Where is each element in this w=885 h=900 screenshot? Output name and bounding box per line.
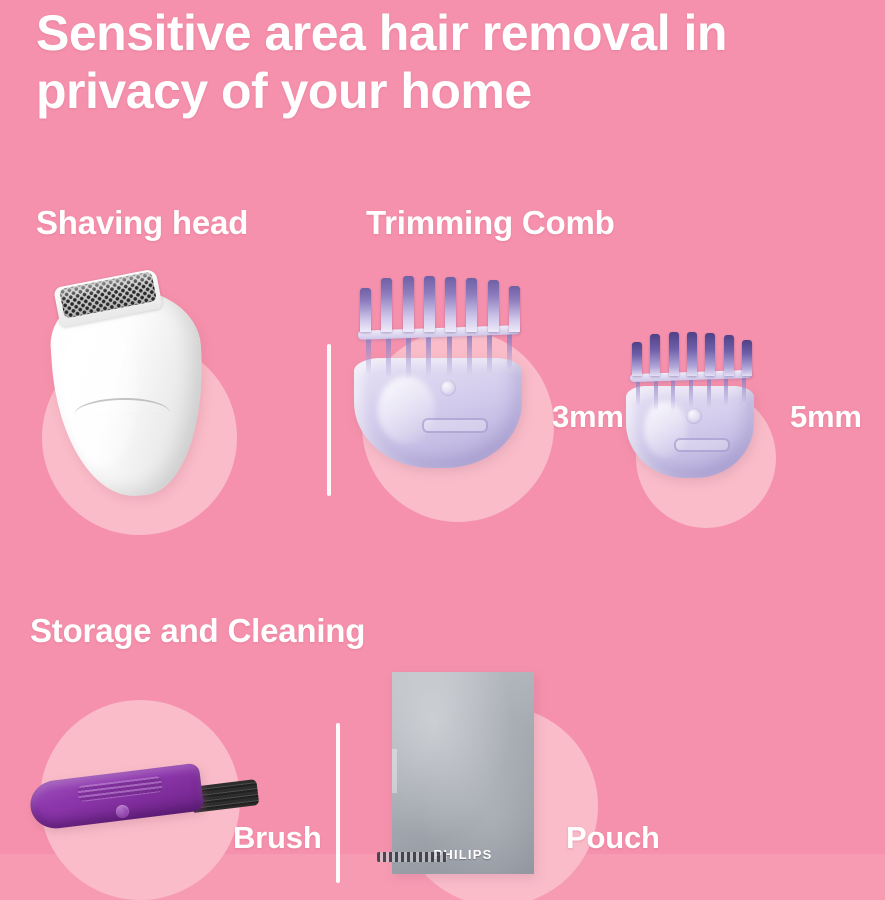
- page-title: Sensitive area hair removal in privacy o…: [36, 4, 866, 120]
- section-heading-trimming-comb: Trimming Comb: [366, 204, 615, 242]
- comb-5mm-teeth: [632, 330, 752, 376]
- caption-brush: Brush: [233, 820, 322, 856]
- pouch-body: PHILIPS: [392, 672, 534, 874]
- section-heading-shaving-head: Shaving head: [36, 204, 248, 242]
- product-image-shaving-head: [48, 272, 213, 502]
- comb-3mm-inner-teeth: [366, 334, 512, 378]
- divider-vertical-top: [327, 344, 331, 496]
- divider-vertical-bottom: [336, 723, 340, 883]
- product-infographic: Sensitive area hair removal in privacy o…: [0, 0, 885, 900]
- caption-comb-5mm: 5mm: [790, 399, 862, 435]
- comb-3mm-sheen: [378, 376, 435, 444]
- comb-3mm-teeth: [360, 274, 520, 332]
- product-image-comb-3mm: [336, 268, 546, 468]
- caption-pouch: Pouch: [566, 820, 660, 856]
- comb-5mm-emblem: [686, 408, 702, 424]
- comb-3mm-slot: [422, 418, 488, 433]
- product-image-comb-5mm: [612, 326, 772, 478]
- caption-comb-3mm: 3mm: [552, 399, 624, 435]
- section-heading-storage-cleaning: Storage and Cleaning: [30, 612, 365, 650]
- comb-3mm-emblem: [440, 380, 456, 396]
- comb-5mm-slot: [674, 438, 730, 452]
- pouch-fold: [392, 749, 397, 793]
- brush-button: [116, 805, 129, 818]
- product-image-pouch: PHILIPS: [392, 672, 534, 874]
- shaving-head-foil-gloss: [59, 271, 154, 301]
- pouch-zipper: [377, 852, 447, 862]
